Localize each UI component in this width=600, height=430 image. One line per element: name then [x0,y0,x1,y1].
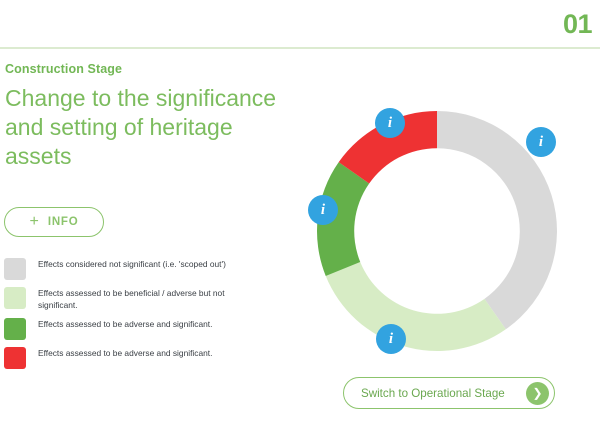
page-title: Change to the significance and setting o… [5,84,295,171]
info-marker-grey[interactable]: i [526,127,556,157]
info-icon: i [389,331,393,348]
legend-swatch [4,318,26,340]
legend-swatch [4,347,26,369]
header-divider [0,47,600,49]
info-icon: i [321,202,325,219]
legend-swatch [4,287,26,309]
legend-label: Effects assessed to be adverse and signi… [38,347,212,360]
left-column: Construction Stage Change to the signifi… [5,62,305,171]
chevron-right-icon: ❯ [526,382,549,405]
legend-item: Effects assessed to be adverse and signi… [4,347,234,369]
switch-to-operational-stage-button[interactable]: Switch to Operational Stage ❯ [343,377,555,409]
legend-swatch [4,258,26,280]
legend-item: Effects assessed to be adverse and signi… [4,318,234,340]
info-icon: i [388,115,392,132]
donut-chart: i i i i [315,108,560,360]
donut-segment-beneficial-or-not-significant[interactable] [326,262,506,351]
legend-label: Effects assessed to be beneficial / adve… [38,287,234,311]
legend-item: Effects assessed to be beneficial / adve… [4,287,234,311]
info-button[interactable]: + INFO [4,207,104,237]
legend-item: Effects considered not significant (i.e.… [4,258,234,280]
info-icon: i [539,134,543,151]
chart-legend: Effects considered not significant (i.e.… [4,258,234,376]
info-button-label: INFO [48,216,79,228]
donut-segment-group [317,111,557,351]
switch-button-label: Switch to Operational Stage [361,387,526,400]
info-marker-red[interactable]: i [375,108,405,138]
legend-label: Effects assessed to be adverse and signi… [38,318,212,331]
donut-chart-svg [315,108,560,360]
plus-icon: + [29,214,38,230]
page-number: 01 [563,9,592,40]
stage-label: Construction Stage [5,62,305,76]
info-marker-lightgreen[interactable]: i [376,324,406,354]
legend-label: Effects considered not significant (i.e.… [38,258,226,271]
page-header: 01 [0,0,600,48]
info-marker-green[interactable]: i [308,195,338,225]
